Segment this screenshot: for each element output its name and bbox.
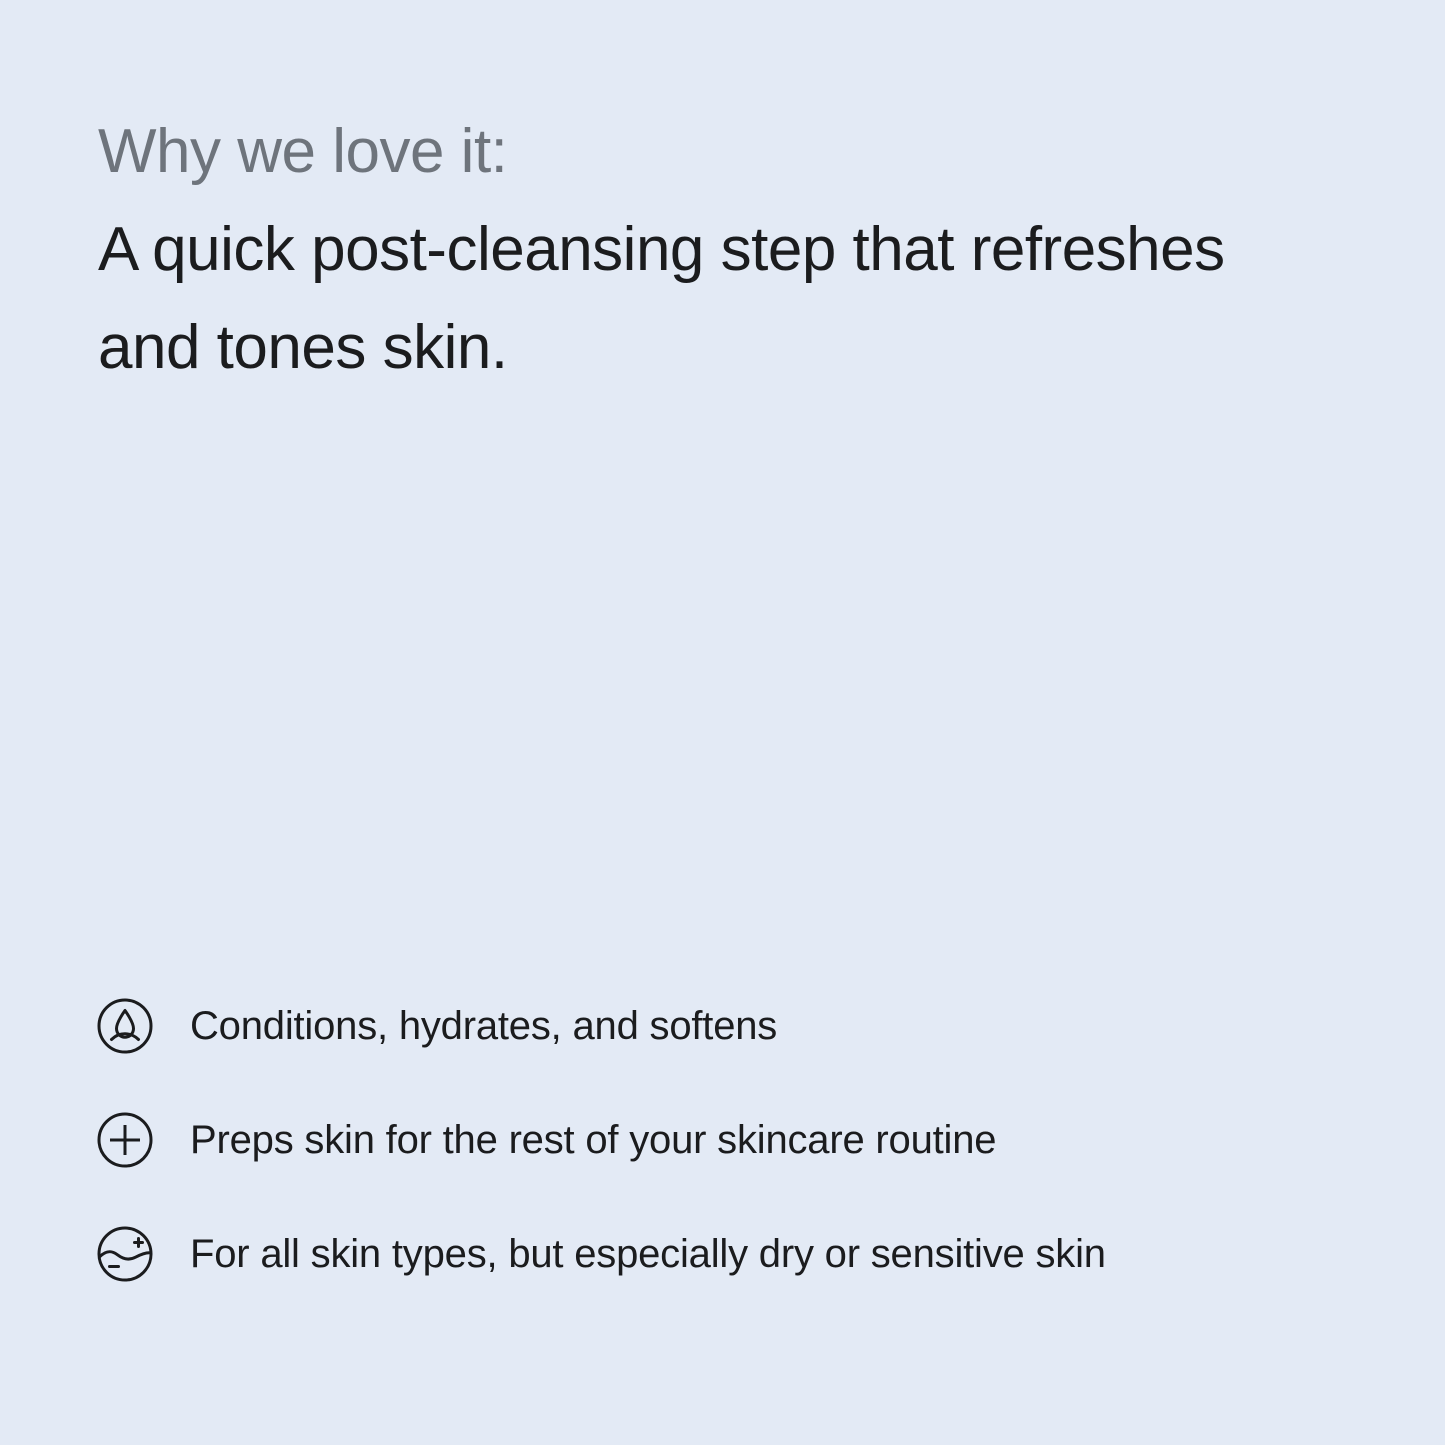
list-item: Conditions, hydrates, and softens [96,995,1326,1057]
product-benefits-card: Why we love it: A quick post-cleansing s… [0,0,1445,1445]
list-item: For all skin types, but especially dry o… [96,1223,1326,1285]
list-item-label: For all skin types, but especially dry o… [190,1223,1106,1285]
eyebrow-label: Why we love it: [98,103,1298,201]
list-item-label: Preps skin for the rest of your skincare… [190,1109,996,1171]
water-drop-icon [96,997,154,1055]
page-title: A quick post-cleansing step that refresh… [98,201,1258,397]
list-item-label: Conditions, hydrates, and softens [190,995,777,1057]
headline-block: Why we love it: A quick post-cleansing s… [98,103,1298,397]
benefits-list: Conditions, hydrates, and softens Preps … [96,995,1326,1285]
ph-balance-icon [96,1225,154,1283]
plus-circle-icon [96,1111,154,1169]
list-item: Preps skin for the rest of your skincare… [96,1109,1326,1171]
